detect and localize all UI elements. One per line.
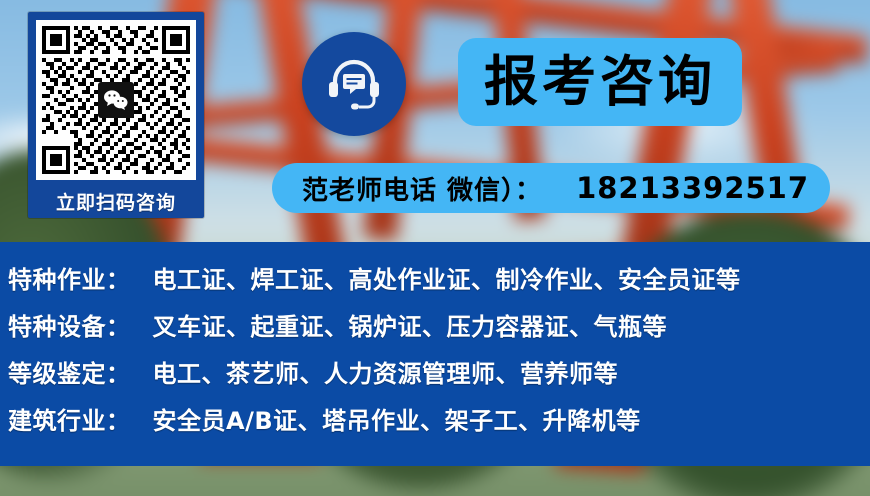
contact-phone-pill[interactable]: 范老师电话 微信）： 18213392517 (272, 163, 830, 213)
category-label: 特种设备： (8, 307, 131, 342)
category-items: 安全员A/B证、塔吊作业、架子工、升降机等 (153, 401, 641, 436)
category-row: 建筑行业： 安全员A/B证、塔吊作业、架子工、升降机等 (0, 401, 870, 448)
category-row: 特种设备： 叉车证、起重证、锅炉证、压力容器证、气瓶等 (0, 307, 870, 354)
title-text: 报考咨询 (484, 55, 716, 109)
category-label: 建筑行业： (8, 401, 131, 436)
qr-code-card[interactable]: 立即扫码咨询 (28, 12, 204, 218)
certificate-categories-panel: 特种作业： 电工证、焊工证、高处作业证、制冷作业、安全员证等 特种设备： 叉车证… (0, 242, 870, 466)
wechat-glyph (103, 89, 129, 111)
contact-label: 范老师电话 微信）： (302, 170, 542, 207)
qr-caption: 立即扫码咨询 (56, 188, 176, 215)
qr-code-image[interactable] (36, 20, 196, 180)
headset-chat-icon (322, 52, 386, 116)
contact-number[interactable]: 18213392517 (576, 171, 809, 205)
category-items: 电工证、焊工证、高处作业证、制冷作业、安全员证等 (153, 260, 741, 295)
category-label: 特种作业： (8, 260, 131, 295)
category-items: 叉车证、起重证、锅炉证、压力容器证、气瓶等 (153, 307, 668, 342)
title-banner: 报考咨询 (458, 38, 742, 126)
category-items: 电工、茶艺师、人力资源管理师、营养师等 (153, 354, 619, 389)
category-row: 等级鉴定： 电工、茶艺师、人力资源管理师、营养师等 (0, 354, 870, 401)
headset-badge[interactable] (302, 32, 406, 136)
category-row: 特种作业： 电工证、焊工证、高处作业证、制冷作业、安全员证等 (0, 260, 870, 307)
promo-banner: 立即扫码咨询 报考咨询 范老师电话 微信）： 18213392517 特种作业：… (0, 0, 870, 496)
wechat-logo-icon (98, 82, 134, 118)
category-label: 等级鉴定： (8, 354, 131, 389)
